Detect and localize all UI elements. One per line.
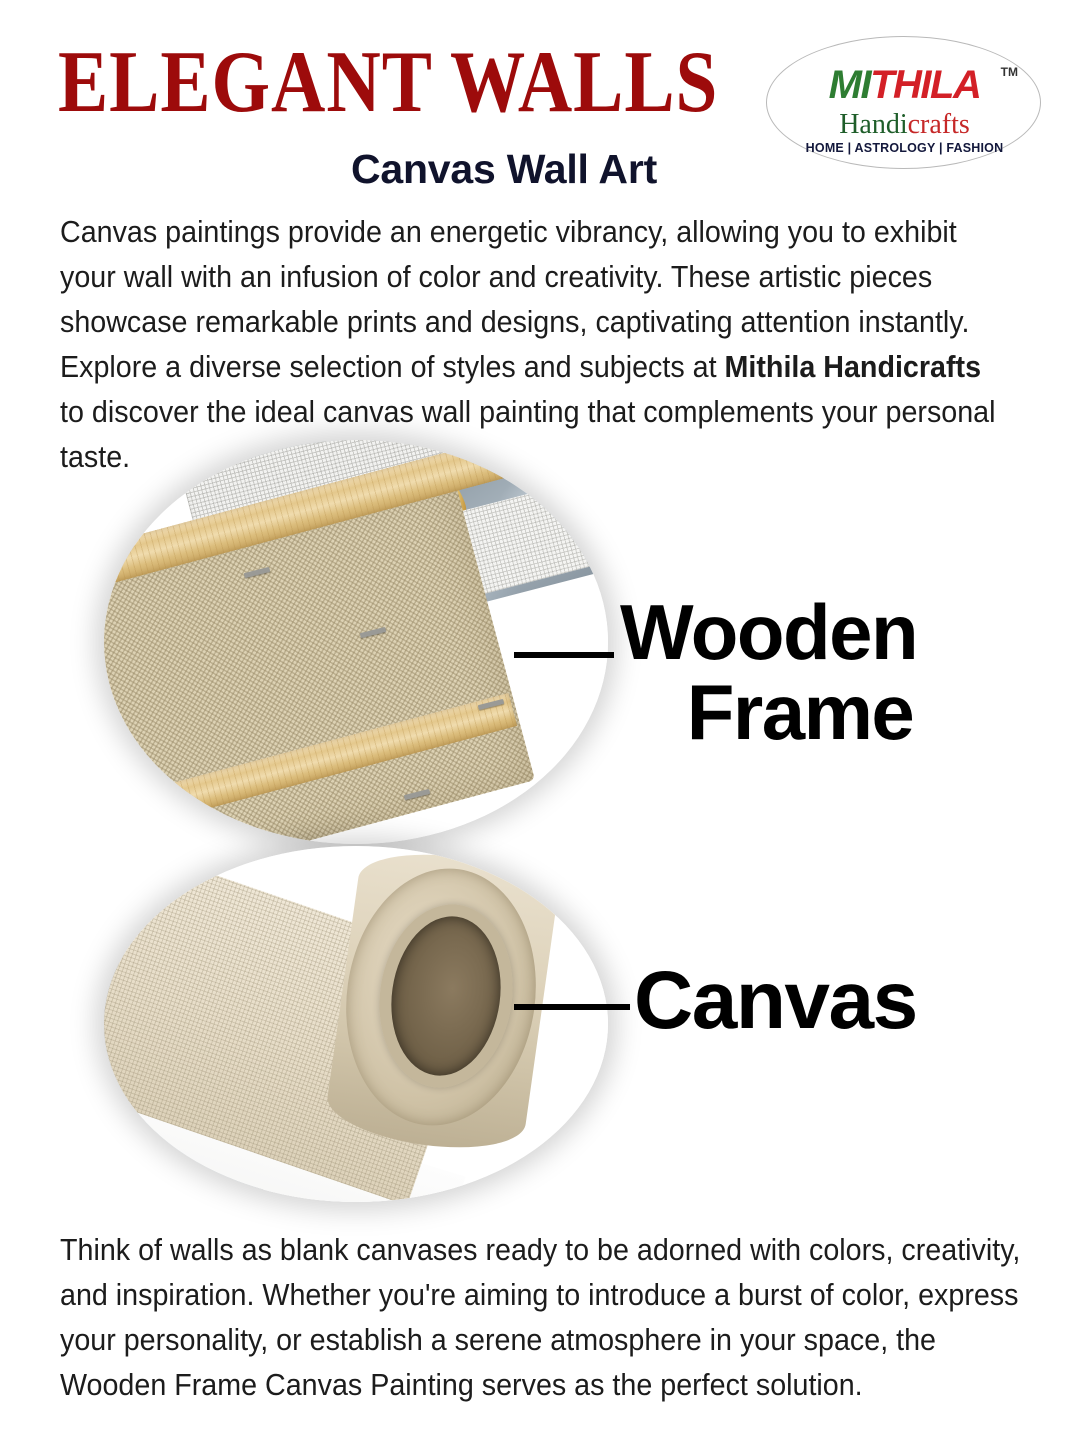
outro-line-1: Think of walls as blank canvases ready t… bbox=[60, 1233, 1020, 1267]
logo-wordmark-part-1: MI bbox=[829, 63, 870, 107]
logo-subname: Handicrafts bbox=[767, 111, 1042, 139]
intro-line-2: your wall with an infusion of color and … bbox=[60, 260, 932, 294]
logo-wordmark-part-2: THILA bbox=[870, 63, 980, 107]
intro-line-5: discover the ideal canvas wall painting … bbox=[92, 395, 996, 429]
wooden-frame-photo bbox=[104, 440, 608, 844]
intro-line-4a: Explore a diverse selection of styles an… bbox=[60, 350, 725, 384]
logo-subname-part-1: Handi bbox=[839, 109, 907, 140]
mithila-handicrafts-logo: MITHILA TM Handicrafts HOME | ASTROLOGY … bbox=[766, 36, 1041, 169]
product-infographic-page: ELEGANT WALLS Canvas Wall Art MITHILA TM… bbox=[0, 0, 1080, 1440]
trademark-icon: TM bbox=[1001, 65, 1018, 79]
wooden-frame-callout-line-2: Frame bbox=[620, 672, 1020, 752]
logo-subname-part-2: crafts bbox=[908, 109, 970, 140]
brand-mention: Mithila Handicrafts bbox=[725, 350, 981, 384]
intro-line-1: Canvas paintings provide an energetic vi… bbox=[60, 215, 957, 249]
wooden-frame-callout-line-1: Wooden bbox=[620, 592, 1020, 672]
canvas-roll-photo bbox=[104, 846, 608, 1202]
intro-line-3: showcase remarkable prints and designs, … bbox=[60, 305, 969, 339]
logo-tagline: HOME | ASTROLOGY | FASHION bbox=[767, 141, 1042, 155]
canvas-callout-label: Canvas bbox=[634, 958, 917, 1044]
intro-line-4c: to bbox=[60, 395, 84, 429]
outro-line-2: and inspiration. Whether you're aiming t… bbox=[60, 1278, 910, 1312]
wooden-frame-callout-label: Wooden Frame bbox=[620, 592, 1020, 752]
outro-paragraph: Think of walls as blank canvases ready t… bbox=[60, 1228, 1028, 1408]
page-header: ELEGANT WALLS Canvas Wall Art MITHILA TM… bbox=[0, 0, 1080, 200]
page-title: ELEGANT WALLS bbox=[58, 38, 718, 126]
wooden-frame-leader-line bbox=[514, 652, 614, 658]
canvas-leader-line bbox=[514, 1004, 630, 1010]
